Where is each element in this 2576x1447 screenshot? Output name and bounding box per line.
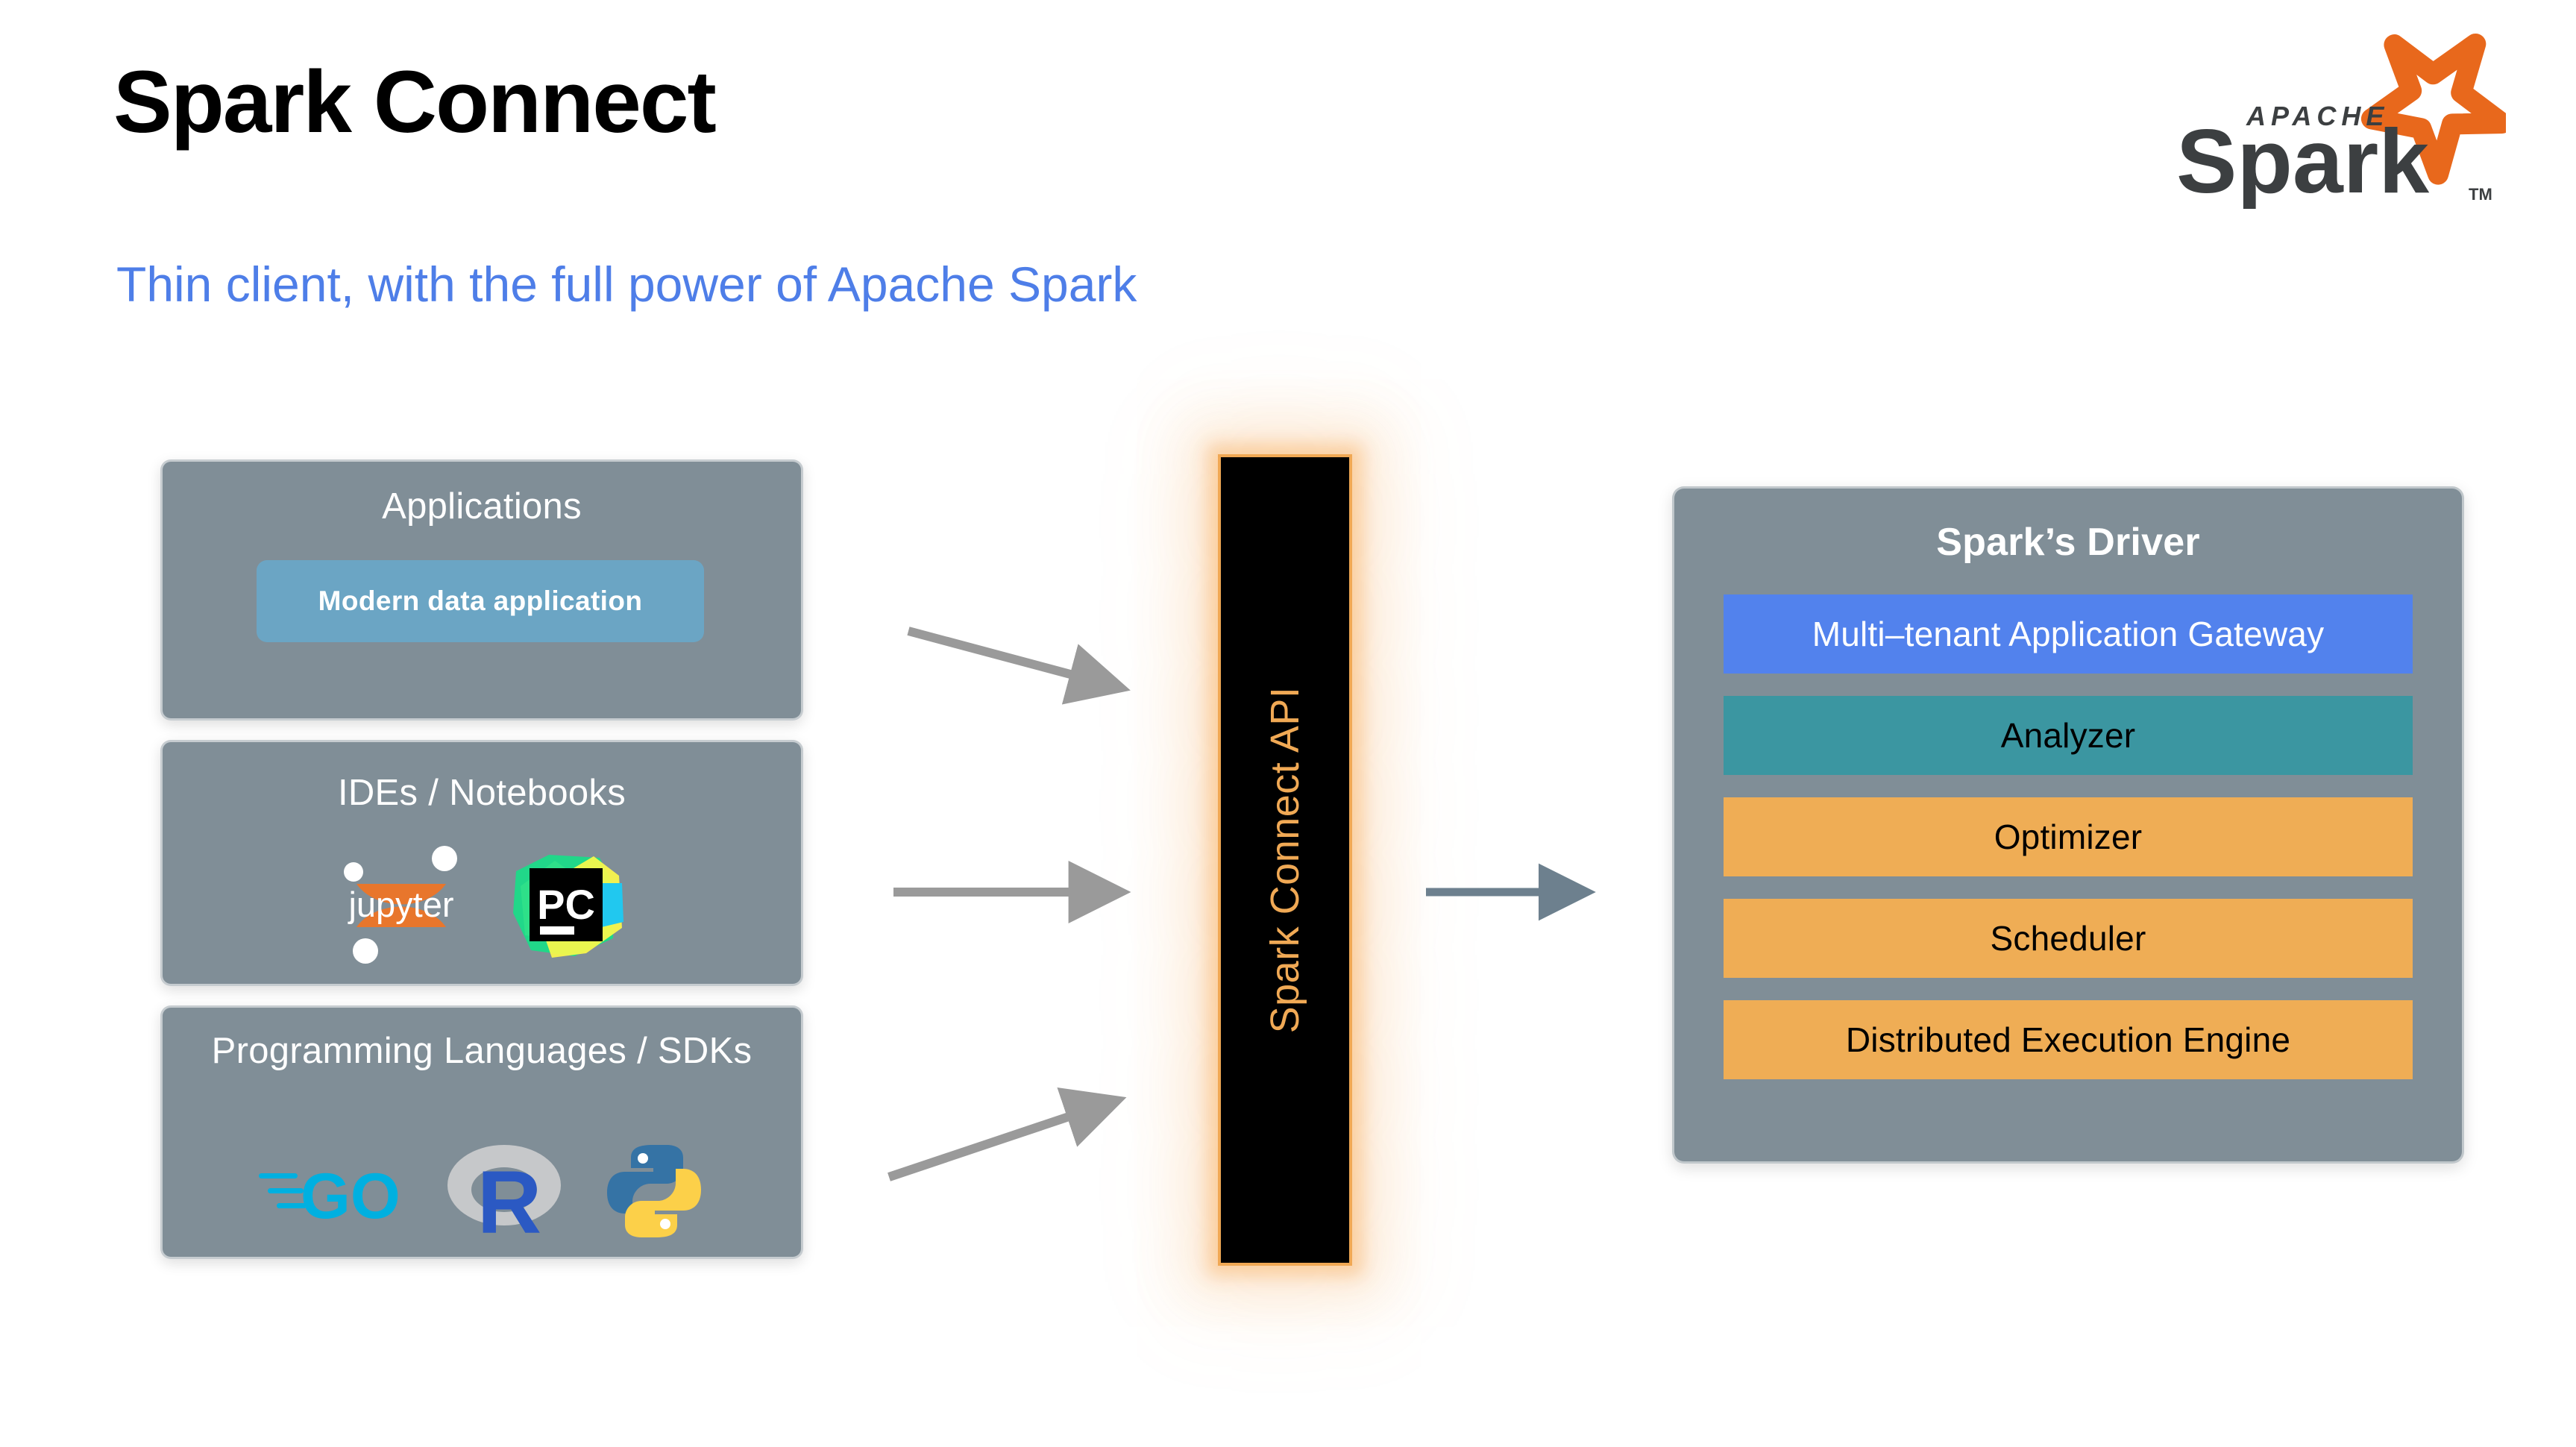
panel-applications: Applications Modern data application xyxy=(160,459,803,721)
spark-driver-title: Spark’s Driver xyxy=(1724,520,2413,565)
driver-row-scheduler[interactable]: Scheduler xyxy=(1724,899,2413,978)
page-subtitle: Thin client, with the full power of Apac… xyxy=(116,260,1137,309)
spark-connect-api-label: Spark Connect API xyxy=(1262,687,1308,1034)
r-logo-label: R xyxy=(477,1152,542,1243)
panel-ides-notebooks: IDEs / Notebooks jupyter xyxy=(160,740,803,986)
driver-row-multi-tenant-application-gateway[interactable]: Multi–tenant Application Gateway xyxy=(1724,594,2413,674)
language-logo-row: GO R xyxy=(163,1139,801,1247)
ide-logo-row: jupyter PC xyxy=(163,838,801,976)
panel-programming-languages-sdks: Programming Languages / SDKs GO xyxy=(160,1005,803,1259)
logo-trademark-text: TM xyxy=(2469,185,2492,204)
client-side-stack: Applications Modern data application IDE… xyxy=(160,459,803,1259)
panel-ides-notebooks-title: IDEs / Notebooks xyxy=(163,772,801,815)
go-logo: GO xyxy=(257,1146,406,1240)
driver-row-analyzer[interactable]: Analyzer xyxy=(1724,696,2413,775)
go-logo-label: GO xyxy=(301,1161,400,1232)
slide-root: Spark Connect Thin client, with the full… xyxy=(0,0,2576,1447)
arrow-languages-to-api xyxy=(889,1102,1111,1177)
panel-applications-title: Applications xyxy=(163,486,801,529)
panel-programming-languages-sdks-title: Programming Languages / SDKs xyxy=(163,1030,801,1073)
spark-driver-panel: Spark’s Driver Multi–tenant Application … xyxy=(1672,486,2464,1164)
spark-connect-api-bar: Spark Connect API xyxy=(1218,454,1352,1266)
python-logo xyxy=(602,1139,706,1247)
r-logo: R xyxy=(441,1139,568,1247)
driver-row-distributed-execution-engine[interactable]: Distributed Execution Engine xyxy=(1724,1000,2413,1079)
driver-row-optimizer[interactable]: Optimizer xyxy=(1724,797,2413,876)
logo-spark-text: Spark xyxy=(2176,110,2429,209)
jupyter-logo: jupyter xyxy=(334,838,468,976)
apache-spark-logo: APACHE Spark TM xyxy=(2133,22,2506,209)
jupyter-logo-label: jupyter xyxy=(347,885,453,924)
page-title: Spark Connect xyxy=(113,58,715,146)
pycharm-logo: PC xyxy=(503,841,629,972)
arrow-applications-to-api xyxy=(908,631,1115,686)
pycharm-logo-label: PC xyxy=(537,881,595,928)
modern-data-application-chip[interactable]: Modern data application xyxy=(257,560,704,642)
